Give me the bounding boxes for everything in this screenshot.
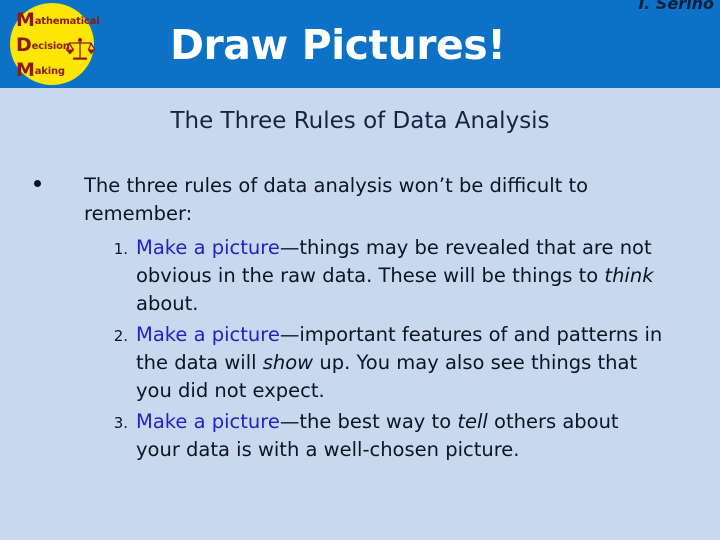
rules-list: 1.Make a picture—things may be revealed … bbox=[104, 234, 664, 464]
section-subtitle: The Three Rules of Data Analysis bbox=[0, 106, 720, 136]
list-marker-1: 1. bbox=[104, 237, 128, 261]
rule-2-dash: — bbox=[280, 323, 300, 346]
logo-cap-m2: M bbox=[16, 59, 35, 81]
rule-2-emphasis: show bbox=[263, 351, 313, 374]
list-item: 2.Make a picture—important features of a… bbox=[104, 321, 664, 405]
author-label: T. Serino bbox=[636, 0, 714, 13]
rule-1-emphasis: think bbox=[604, 264, 653, 287]
slide-canvas: Mathematical Decision Making bbox=[0, 0, 720, 540]
logo-cap-m1: M bbox=[16, 9, 35, 31]
logo-rest-mathematical: athematical bbox=[35, 16, 100, 27]
rule-3-text-before: the best way to bbox=[299, 410, 457, 433]
list-item: 3.Make a picture—the best way to tell ot… bbox=[104, 408, 664, 464]
rule-1-dash: — bbox=[280, 236, 300, 259]
logo-line-decision: Decision bbox=[16, 34, 70, 55]
bullet-dot-icon bbox=[34, 180, 41, 187]
slide-content: The three rules of data analysis won’t b… bbox=[0, 172, 720, 480]
rule-3-highlight: Make a picture bbox=[136, 410, 280, 433]
list-marker-3: 3. bbox=[104, 411, 128, 435]
rule-2-highlight: Make a picture bbox=[136, 323, 280, 346]
logo-line-making: Making bbox=[16, 59, 65, 80]
intro-bullet-text: The three rules of data analysis won’t b… bbox=[84, 172, 624, 228]
list-marker-2: 2. bbox=[104, 324, 128, 348]
intro-bullet: The three rules of data analysis won’t b… bbox=[0, 172, 720, 228]
slide-title: Draw Pictures! bbox=[170, 12, 610, 78]
mdm-logo: Mathematical Decision Making bbox=[8, 1, 96, 87]
logo-rest-making: aking bbox=[35, 66, 65, 77]
logo-line-mathematical: Mathematical bbox=[16, 9, 99, 30]
rule-3-emphasis: tell bbox=[457, 410, 487, 433]
rule-1-text-after: about. bbox=[136, 292, 198, 315]
logo-rest-decision: ecision bbox=[32, 41, 70, 52]
slide-header: Mathematical Decision Making bbox=[0, 0, 720, 88]
rule-3-dash: — bbox=[280, 410, 300, 433]
list-item: 1.Make a picture—things may be revealed … bbox=[104, 234, 664, 318]
rule-1-highlight: Make a picture bbox=[136, 236, 280, 259]
logo-cap-d: D bbox=[16, 34, 32, 56]
scales-of-justice-icon bbox=[65, 37, 95, 63]
